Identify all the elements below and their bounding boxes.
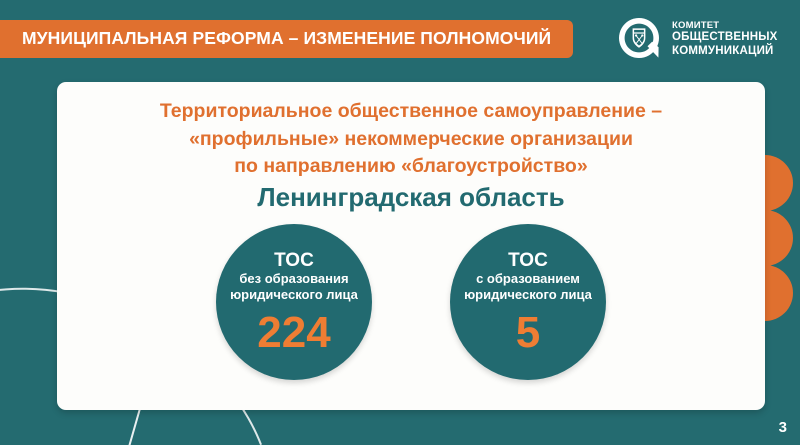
- decorative-line: [124, 405, 142, 445]
- logo-line-3: КОММУНИКАЦИЙ: [672, 45, 778, 59]
- stat-subtitle-line-2: юридического лица: [230, 287, 358, 303]
- logo-line-1: КОМИТЕТ: [672, 20, 778, 31]
- content-card: Территориальное общественное самоуправле…: [57, 82, 765, 410]
- headline-line-2: «профильные» некоммерческие организации: [57, 126, 765, 154]
- header-banner: МУНИЦИПАЛЬНАЯ РЕФОРМА – ИЗМЕНЕНИЕ ПОЛНОМ…: [0, 20, 573, 58]
- logo-line-2: ОБЩЕСТВЕННЫХ: [672, 31, 778, 45]
- stat-subtitle-line-1: с образованием: [476, 271, 580, 287]
- region-title: Ленинградская область: [57, 184, 765, 210]
- page-number: 3: [779, 420, 787, 435]
- stats-group: ТОС без образования юридического лица 22…: [57, 224, 765, 380]
- organization-logo: КОМИТЕТ ОБЩЕСТВЕННЫХ КОММУНИКАЦИЙ: [617, 16, 778, 62]
- logo-text-block: КОМИТЕТ ОБЩЕСТВЕННЫХ КОММУНИКАЦИЙ: [672, 20, 778, 58]
- headline: Территориальное общественное самоуправле…: [57, 98, 765, 181]
- stat-subtitle-line-1: без образования: [239, 271, 348, 287]
- header-banner-label: МУНИЦИПАЛЬНАЯ РЕФОРМА – ИЗМЕНЕНИЕ ПОЛНОМ…: [22, 30, 551, 48]
- slide-root: МУНИЦИПАЛЬНАЯ РЕФОРМА – ИЗМЕНЕНИЕ ПОЛНОМ…: [0, 0, 800, 445]
- headline-line-3: по направлению «благоустройство»: [57, 153, 765, 181]
- komitet-circle-emblem-icon: [617, 16, 663, 62]
- stat-value: 224: [257, 311, 330, 355]
- stat-subtitle-line-2: юридического лица: [464, 287, 592, 303]
- stat-value: 5: [516, 311, 540, 355]
- stat-title: ТОС: [508, 250, 548, 271]
- stat-circle-with-legal-entity: ТОС с образованием юридического лица 5: [450, 224, 606, 380]
- stat-title: ТОС: [274, 250, 314, 271]
- stat-circle-without-legal-entity: ТОС без образования юридического лица 22…: [216, 224, 372, 380]
- headline-line-1: Территориальное общественное самоуправле…: [57, 98, 765, 126]
